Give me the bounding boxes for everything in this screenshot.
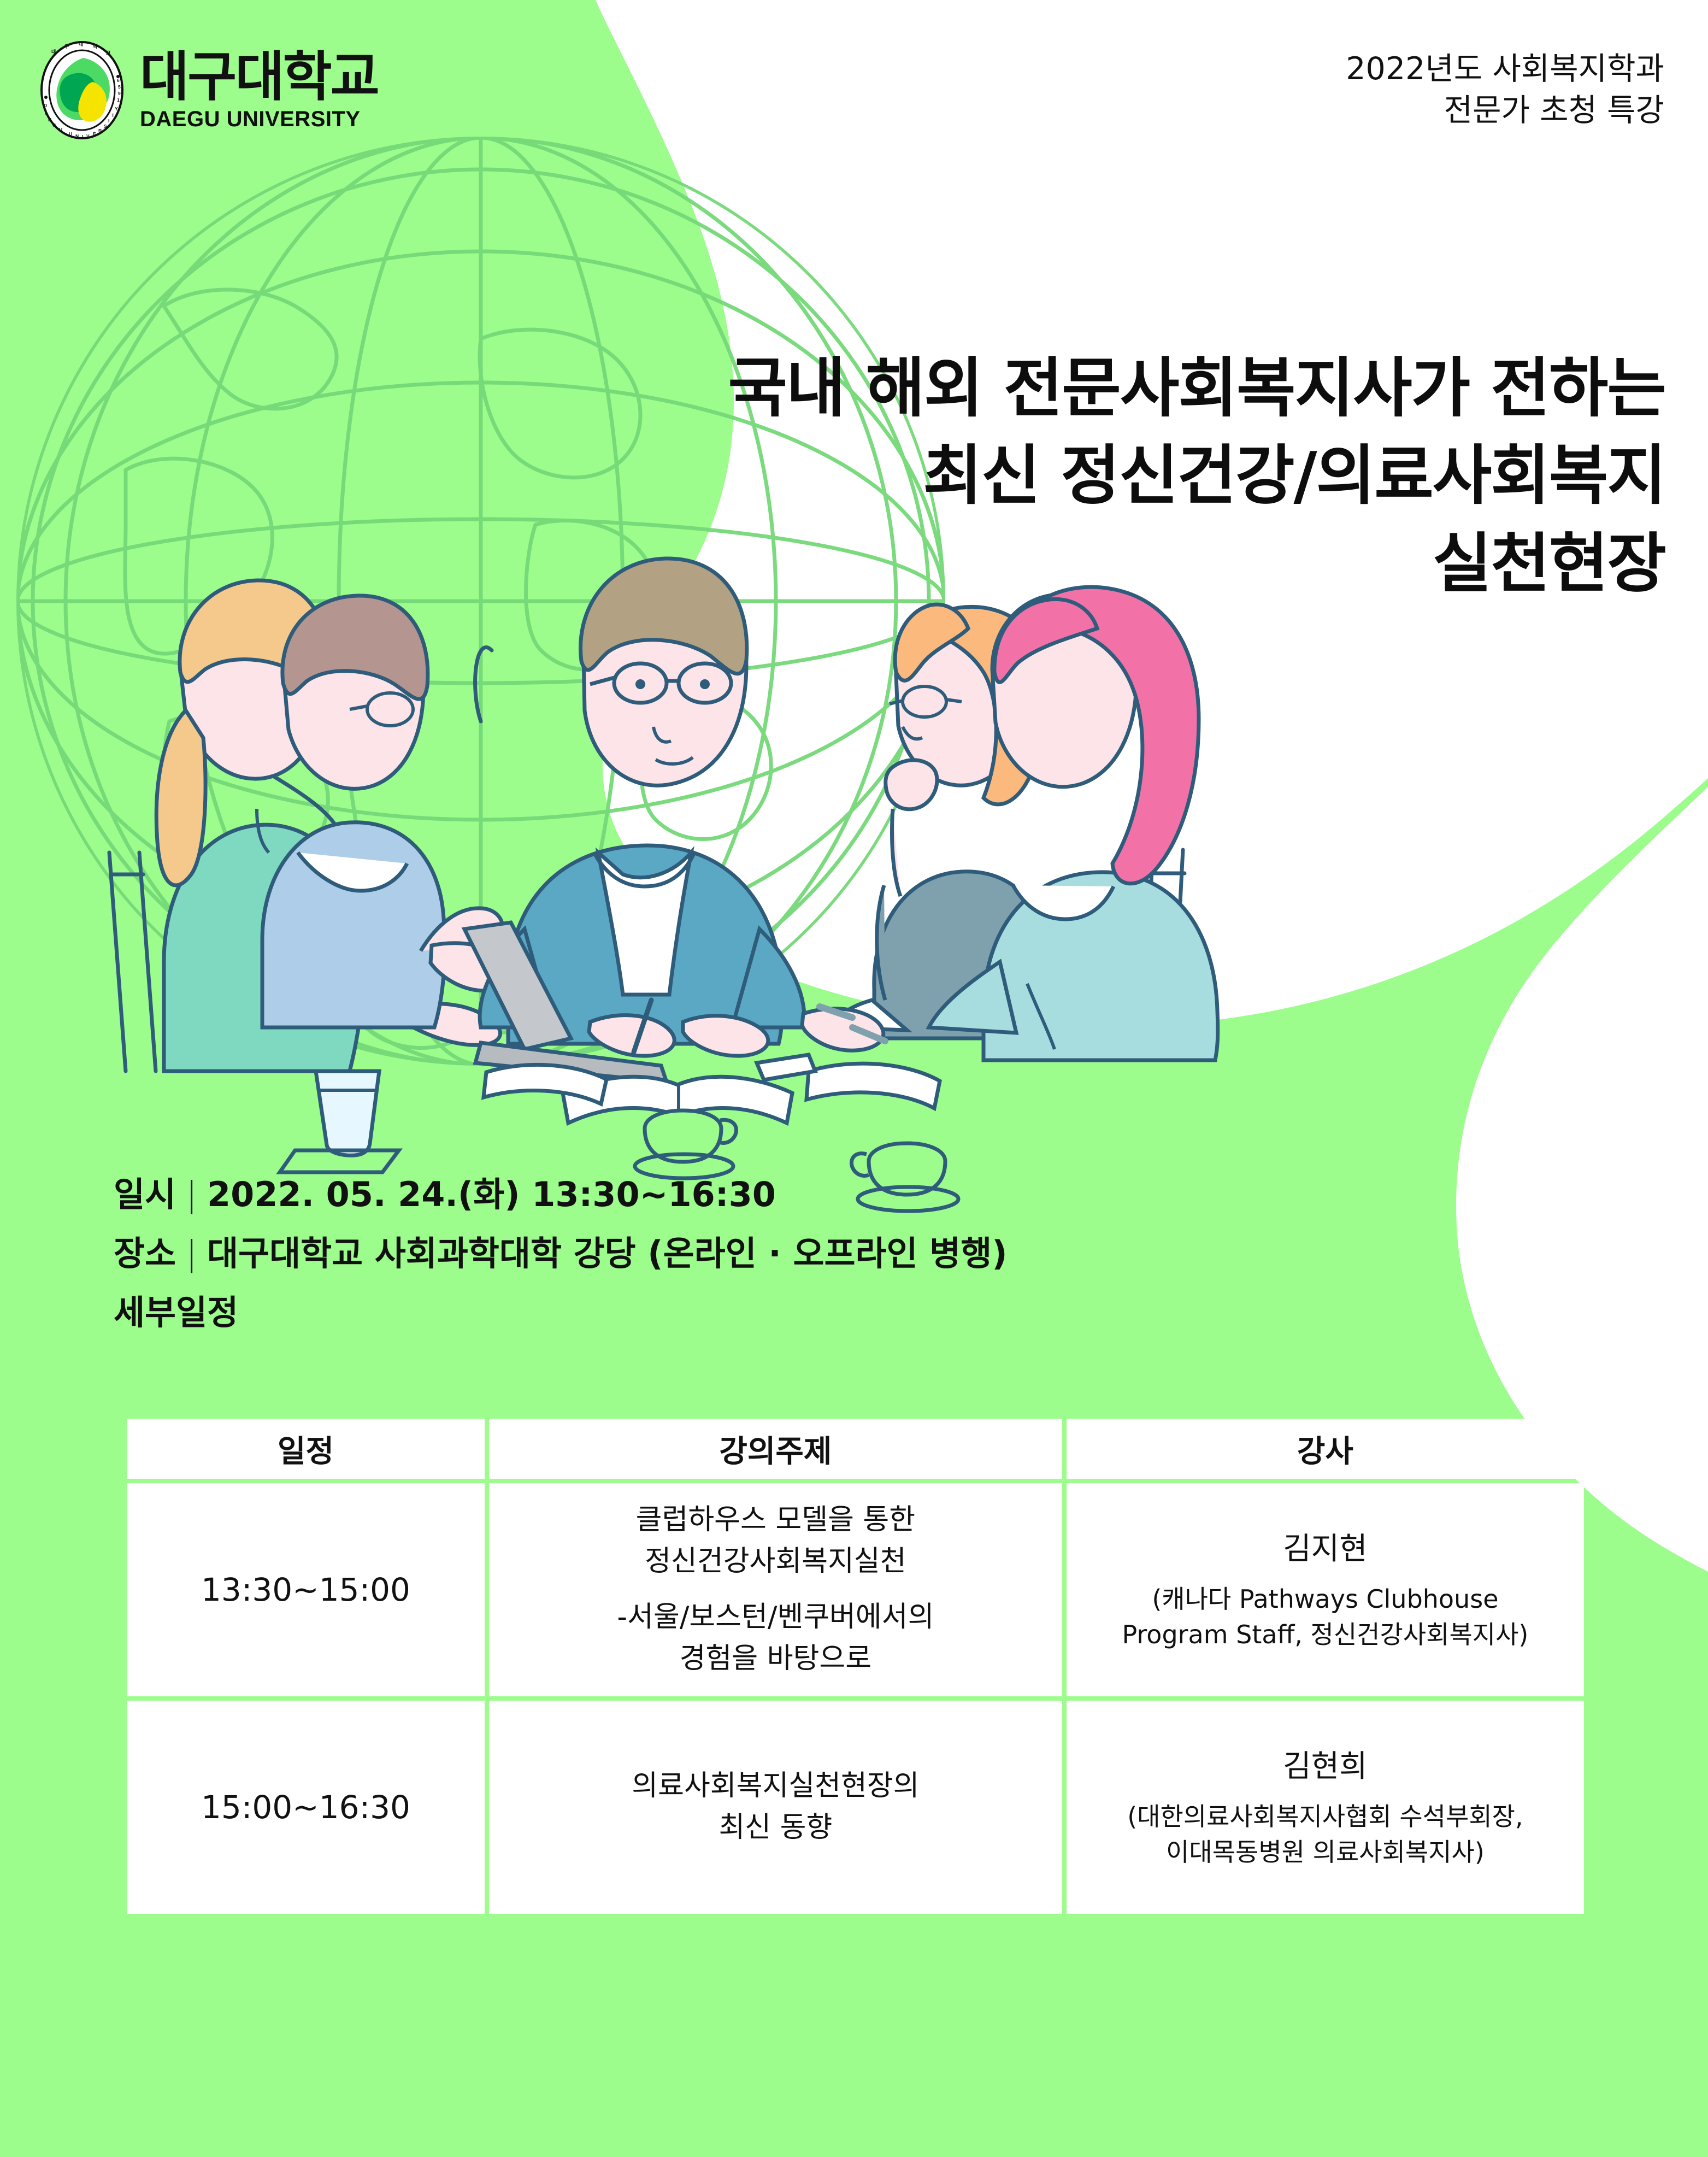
title-line-1: 국내 해외 전문사회복지사가 전하는 (728, 344, 1665, 432)
svg-text:6: 6 (117, 78, 120, 83)
svg-text:5: 5 (118, 84, 121, 90)
row2-speaker-name: 김현희 (1073, 1744, 1577, 1789)
kicker-line-2: 전문가 초청 특강 (1346, 90, 1664, 131)
svg-text:U: U (59, 127, 62, 132)
column-header-speaker: 강사 (1067, 1419, 1584, 1479)
row2-topic-line1: 의료사회복지실천현장의 (496, 1766, 1056, 1807)
svg-text:교: 교 (106, 50, 110, 56)
svg-text:대: 대 (79, 41, 83, 47)
university-logo: 대구대학교 DAEGU UNIVERSITY 1956 대구대학교 DAEGU … (38, 38, 378, 142)
table-header-row: 일정 강의주제 강사 (127, 1419, 1584, 1479)
row1-topic-line1: 클럽하우스 모델을 통한 (496, 1500, 1056, 1541)
column-header-topic: 강의주제 (489, 1419, 1062, 1479)
row2-topic: 의료사회복지실천현장의 최신 동향 (489, 1701, 1062, 1914)
row1-topic: 클럽하우스 모델을 통한 정신건강사회복지실천 -서울/보스턴/벤쿠버에서의 경… (489, 1483, 1062, 1696)
row1-speaker-aff-line2: Program Staff, 정신건강사회복지사) (1073, 1617, 1577, 1653)
logo-korean-text: 대구대학교 (140, 50, 378, 104)
title-line-2: 최신 정신건강/의료사회복지 (728, 432, 1665, 519)
svg-text:구: 구 (64, 44, 69, 49)
svg-text:R: R (98, 128, 102, 133)
svg-text:1: 1 (117, 97, 120, 103)
row1-topic-gap (496, 1583, 1056, 1597)
table-row: 13:30~15:00 클럽하우스 모델을 통한 정신건강사회복지실천 -서울/… (127, 1483, 1584, 1696)
daegu-university-seal-icon: 대구대학교 DAEGU UNIVERSITY 1956 (38, 38, 126, 142)
logo-english-text: DAEGU UNIVERSITY (140, 108, 378, 130)
svg-text:V: V (86, 133, 90, 139)
row2-speaker-aff-line1: (대한의료사회복지사협회 수석부회장, (1073, 1799, 1577, 1835)
row1-speaker-name: 김지현 (1073, 1527, 1577, 1572)
table-row: 15:00~16:30 의료사회복지실천현장의 최신 동향 김현희 (대한의료사… (127, 1701, 1584, 1914)
svg-text:S: S (104, 124, 107, 129)
column-header-time: 일정 (127, 1419, 485, 1479)
svg-text:T: T (111, 113, 115, 118)
event-kicker: 2022년도 사회복지학과 전문가 초청 특강 (1346, 48, 1664, 132)
date-label: 일시 (114, 1178, 176, 1212)
place-label: 장소 (114, 1237, 176, 1271)
svg-text:I: I (108, 118, 109, 124)
date-separator: | (186, 1178, 197, 1212)
row1-speaker-aff-line1: (캐나다 Pathways Clubhouse (1073, 1582, 1577, 1617)
row2-speaker: 김현희 (대한의료사회복지사협회 수석부회장, 이대목동병원 의료사회복지사) (1067, 1701, 1584, 1914)
svg-text:A: A (45, 110, 48, 116)
svg-text:N: N (75, 133, 79, 139)
date-value: 2022. 05. 24.(화) 13:30~16:30 (207, 1178, 776, 1212)
row1-topic-line3: -서울/보스턴/벤쿠버에서의 (496, 1597, 1056, 1638)
svg-text:E: E (93, 131, 96, 137)
event-date-row: 일시 | 2022. 05. 24.(화) 13:30~16:30 (114, 1178, 1008, 1212)
place-value: 대구대학교 사회과학대학 강당 (온라인 · 오프라인 병행) (207, 1237, 1008, 1271)
row1-topic-line2: 정신건강사회복지실천 (496, 1541, 1056, 1583)
schedule-heading: 세부일정 (114, 1296, 1008, 1330)
event-place-row: 장소 | 대구대학교 사회과학대학 강당 (온라인 · 오프라인 병행) (114, 1237, 1008, 1271)
svg-text:G: G (52, 122, 56, 128)
svg-text:대: 대 (51, 49, 56, 55)
row2-time: 15:00~16:30 (127, 1701, 485, 1914)
title-line-3: 실천현장 (728, 520, 1665, 607)
schedule-table: 일정 강의주제 강사 13:30~15:00 클럽하우스 모델을 통한 정신건강… (122, 1414, 1588, 1918)
svg-text:E: E (48, 117, 51, 122)
svg-text:I: I (82, 134, 83, 139)
event-info: 일시 | 2022. 05. 24.(화) 13:30~16:30 장소 | 대… (114, 1178, 1008, 1330)
kicker-line-1: 2022년도 사회복지학과 (1346, 48, 1664, 90)
row2-topic-line2: 최신 동향 (496, 1807, 1056, 1849)
poster-title: 국내 해외 전문사회복지사가 전하는 최신 정신건강/의료사회복지 실천현장 (728, 344, 1665, 607)
svg-text:Y: Y (115, 106, 118, 111)
svg-text:9: 9 (118, 91, 121, 96)
row1-time: 13:30~15:00 (127, 1483, 485, 1696)
row1-topic-line4: 경험을 바탕으로 (496, 1638, 1056, 1680)
svg-text:학: 학 (93, 43, 98, 49)
row1-speaker: 김지현 (캐나다 Pathways Clubhouse Program Staf… (1067, 1483, 1584, 1696)
svg-text:D: D (44, 103, 47, 108)
svg-text:U: U (69, 131, 72, 137)
row2-speaker-aff-line2: 이대목동병원 의료사회복지사) (1073, 1835, 1577, 1870)
place-separator: | (186, 1237, 197, 1271)
